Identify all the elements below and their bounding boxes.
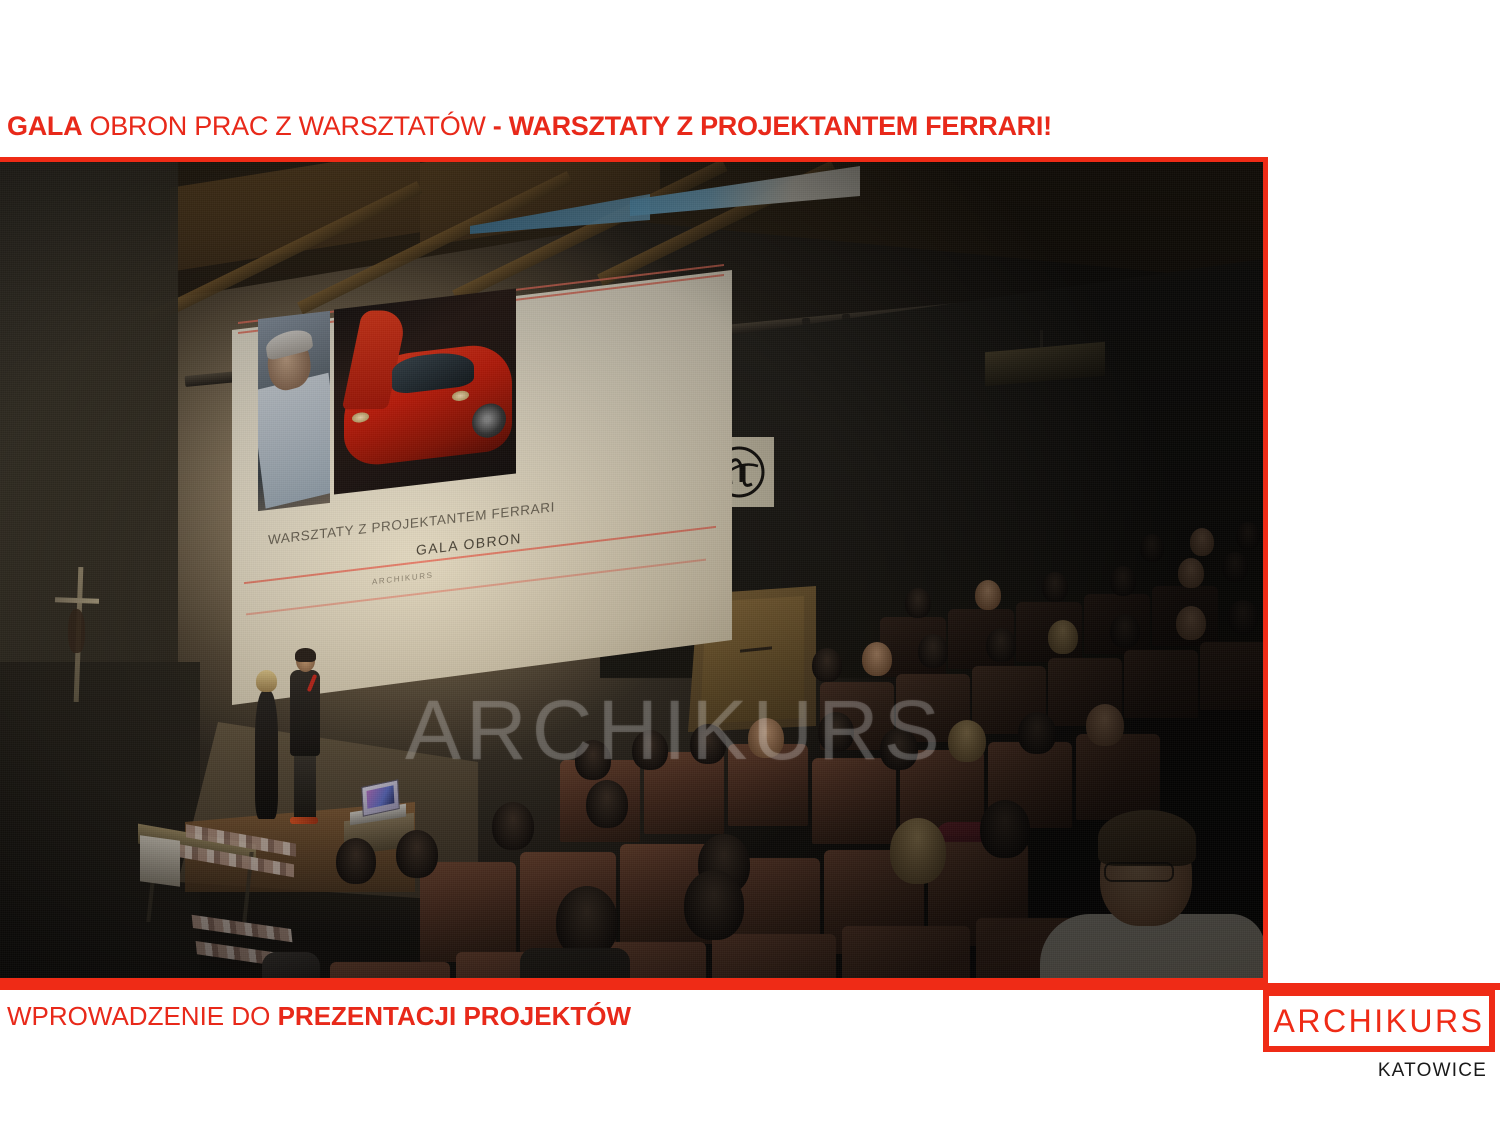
presenter-hair: [256, 670, 277, 692]
brand-logo-box[interactable]: ARCHIKURS: [1263, 990, 1495, 1052]
auditorium-photo: WARSZTATY Z PROJEKTANTEM FERRARI GALA OB…: [0, 162, 1263, 978]
audience-head: [748, 718, 784, 758]
audience-head: [1228, 600, 1258, 634]
presenter-man: [288, 650, 322, 828]
presenter-woman: [253, 672, 279, 822]
audience-head: [986, 628, 1016, 662]
audience-body: [520, 948, 630, 978]
laptop-display: [366, 785, 394, 809]
seat: [842, 926, 970, 978]
audience-head: [575, 740, 611, 780]
footer-caption: WPROWADZENIE DO PREZENTACJI PROJEKTÓW: [7, 1003, 631, 1029]
footer-caption-thin: WPROWADZENIE DO: [7, 1001, 278, 1031]
page-title-bold-lead: GALA: [7, 111, 82, 141]
eyeglasses-icon: [1104, 862, 1174, 882]
audience-head: [1042, 572, 1068, 602]
audience-head: [1190, 528, 1214, 556]
brand-city-label: KATOWICE: [1263, 1060, 1495, 1082]
slide-photo-ferrari: [334, 288, 516, 494]
brand-logo-text: ARCHIKURS: [1274, 1003, 1485, 1040]
audience-head: [632, 730, 668, 770]
presenter-legs: [294, 753, 316, 821]
audience-head: [586, 780, 628, 828]
presenter-jacket: [290, 670, 320, 756]
seat: [1076, 734, 1160, 820]
page-title-bold-tail: - WARSZTATY Z PROJEKTANTEM FERRARI!: [493, 111, 1052, 141]
audience-head: [905, 588, 931, 618]
left-wall-lower: [0, 662, 200, 978]
presenter-dress: [255, 691, 278, 819]
footer-caption-bold: PREZENTACJI PROJEKTÓW: [278, 1001, 631, 1031]
seat: [812, 758, 896, 844]
audience-head: [690, 724, 726, 764]
slide-photo-designer: [258, 311, 330, 511]
seat: [330, 962, 450, 978]
audience-head: [890, 818, 946, 884]
seat: [420, 862, 516, 962]
presenter-hair: [295, 648, 316, 662]
audience-head: [1018, 712, 1056, 754]
seat: [712, 934, 836, 978]
audience-head: [918, 634, 948, 668]
audience-head: [948, 720, 986, 762]
audience-head: [812, 648, 842, 682]
audience-head: [975, 580, 1001, 610]
footer-rule: [0, 983, 1500, 990]
audience-head: [1110, 566, 1136, 596]
audience-head: [1048, 620, 1078, 654]
foreground-person-hair: [1098, 810, 1196, 866]
audience-head: [1140, 534, 1164, 562]
crucifix-figure: [68, 609, 85, 653]
audience-head: [1236, 522, 1260, 550]
header-band: GALA OBRON PRAC Z WARSZTATÓW - WARSZTATY…: [0, 0, 1500, 157]
paper-stack: [140, 835, 180, 887]
designer-shirt: [258, 373, 330, 509]
presenter-shoes: [290, 817, 318, 824]
audience-head: [862, 642, 892, 676]
seat: [1124, 650, 1198, 718]
photo-frame: WARSZTATY Z PROJEKTANTEM FERRARI GALA OB…: [0, 157, 1268, 983]
audience-head: [980, 800, 1030, 858]
seat: [1200, 642, 1263, 710]
audience-head: [1178, 558, 1204, 588]
audience-head: [336, 838, 376, 884]
audience-head: [1110, 614, 1140, 648]
page-title-thin: OBRON PRAC Z WARSZTATÓW: [82, 111, 493, 141]
page-title: GALA OBRON PRAC Z WARSZTATÓW - WARSZTATY…: [7, 113, 1052, 140]
audience-head: [818, 712, 854, 752]
audience-head: [1222, 552, 1248, 582]
audience-head: [1176, 606, 1206, 640]
audience-head: [492, 802, 534, 850]
left-concrete-wall: [0, 162, 178, 722]
audience-head: [396, 830, 438, 878]
audience-head: [1086, 704, 1124, 746]
backpack: [262, 952, 320, 978]
audience-head: [880, 728, 918, 770]
audience-head: [684, 870, 744, 940]
